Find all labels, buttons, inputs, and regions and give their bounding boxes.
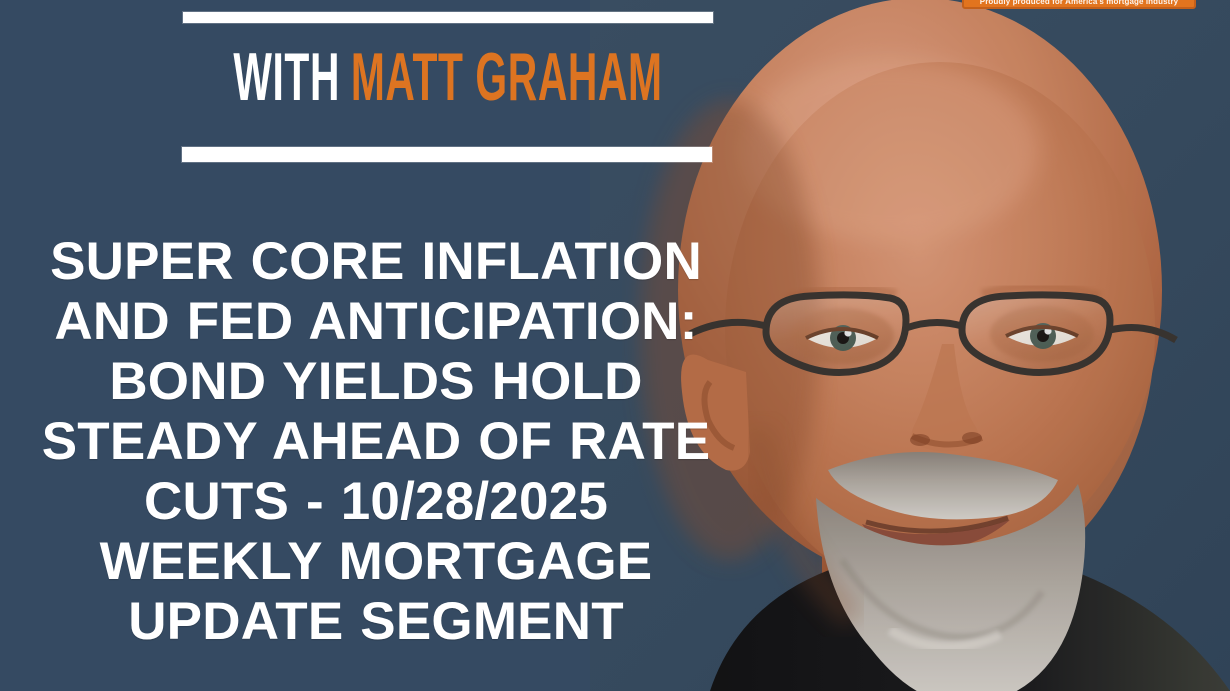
badge-label: Proudly produced for America's mortgage … bbox=[980, 0, 1178, 7]
host-name: MATT GRAHAM bbox=[351, 39, 663, 115]
host-credit-line: WITHMATT GRAHAM bbox=[179, 43, 717, 111]
video-title-card: Proudly produced for America's mortgage … bbox=[0, 0, 1230, 691]
bottom-divider-rule bbox=[182, 147, 712, 162]
episode-title: SUPER CORE INFLATION AND FED ANTICIPATIO… bbox=[38, 232, 714, 652]
top-divider-rule bbox=[183, 12, 713, 23]
title-text-column: WITHMATT GRAHAM SUPER CORE INFLATION AND… bbox=[0, 0, 752, 691]
host-prefix: WITH bbox=[233, 39, 340, 115]
mortgage-industry-badge: Proudly produced for America's mortgage … bbox=[962, 0, 1196, 9]
